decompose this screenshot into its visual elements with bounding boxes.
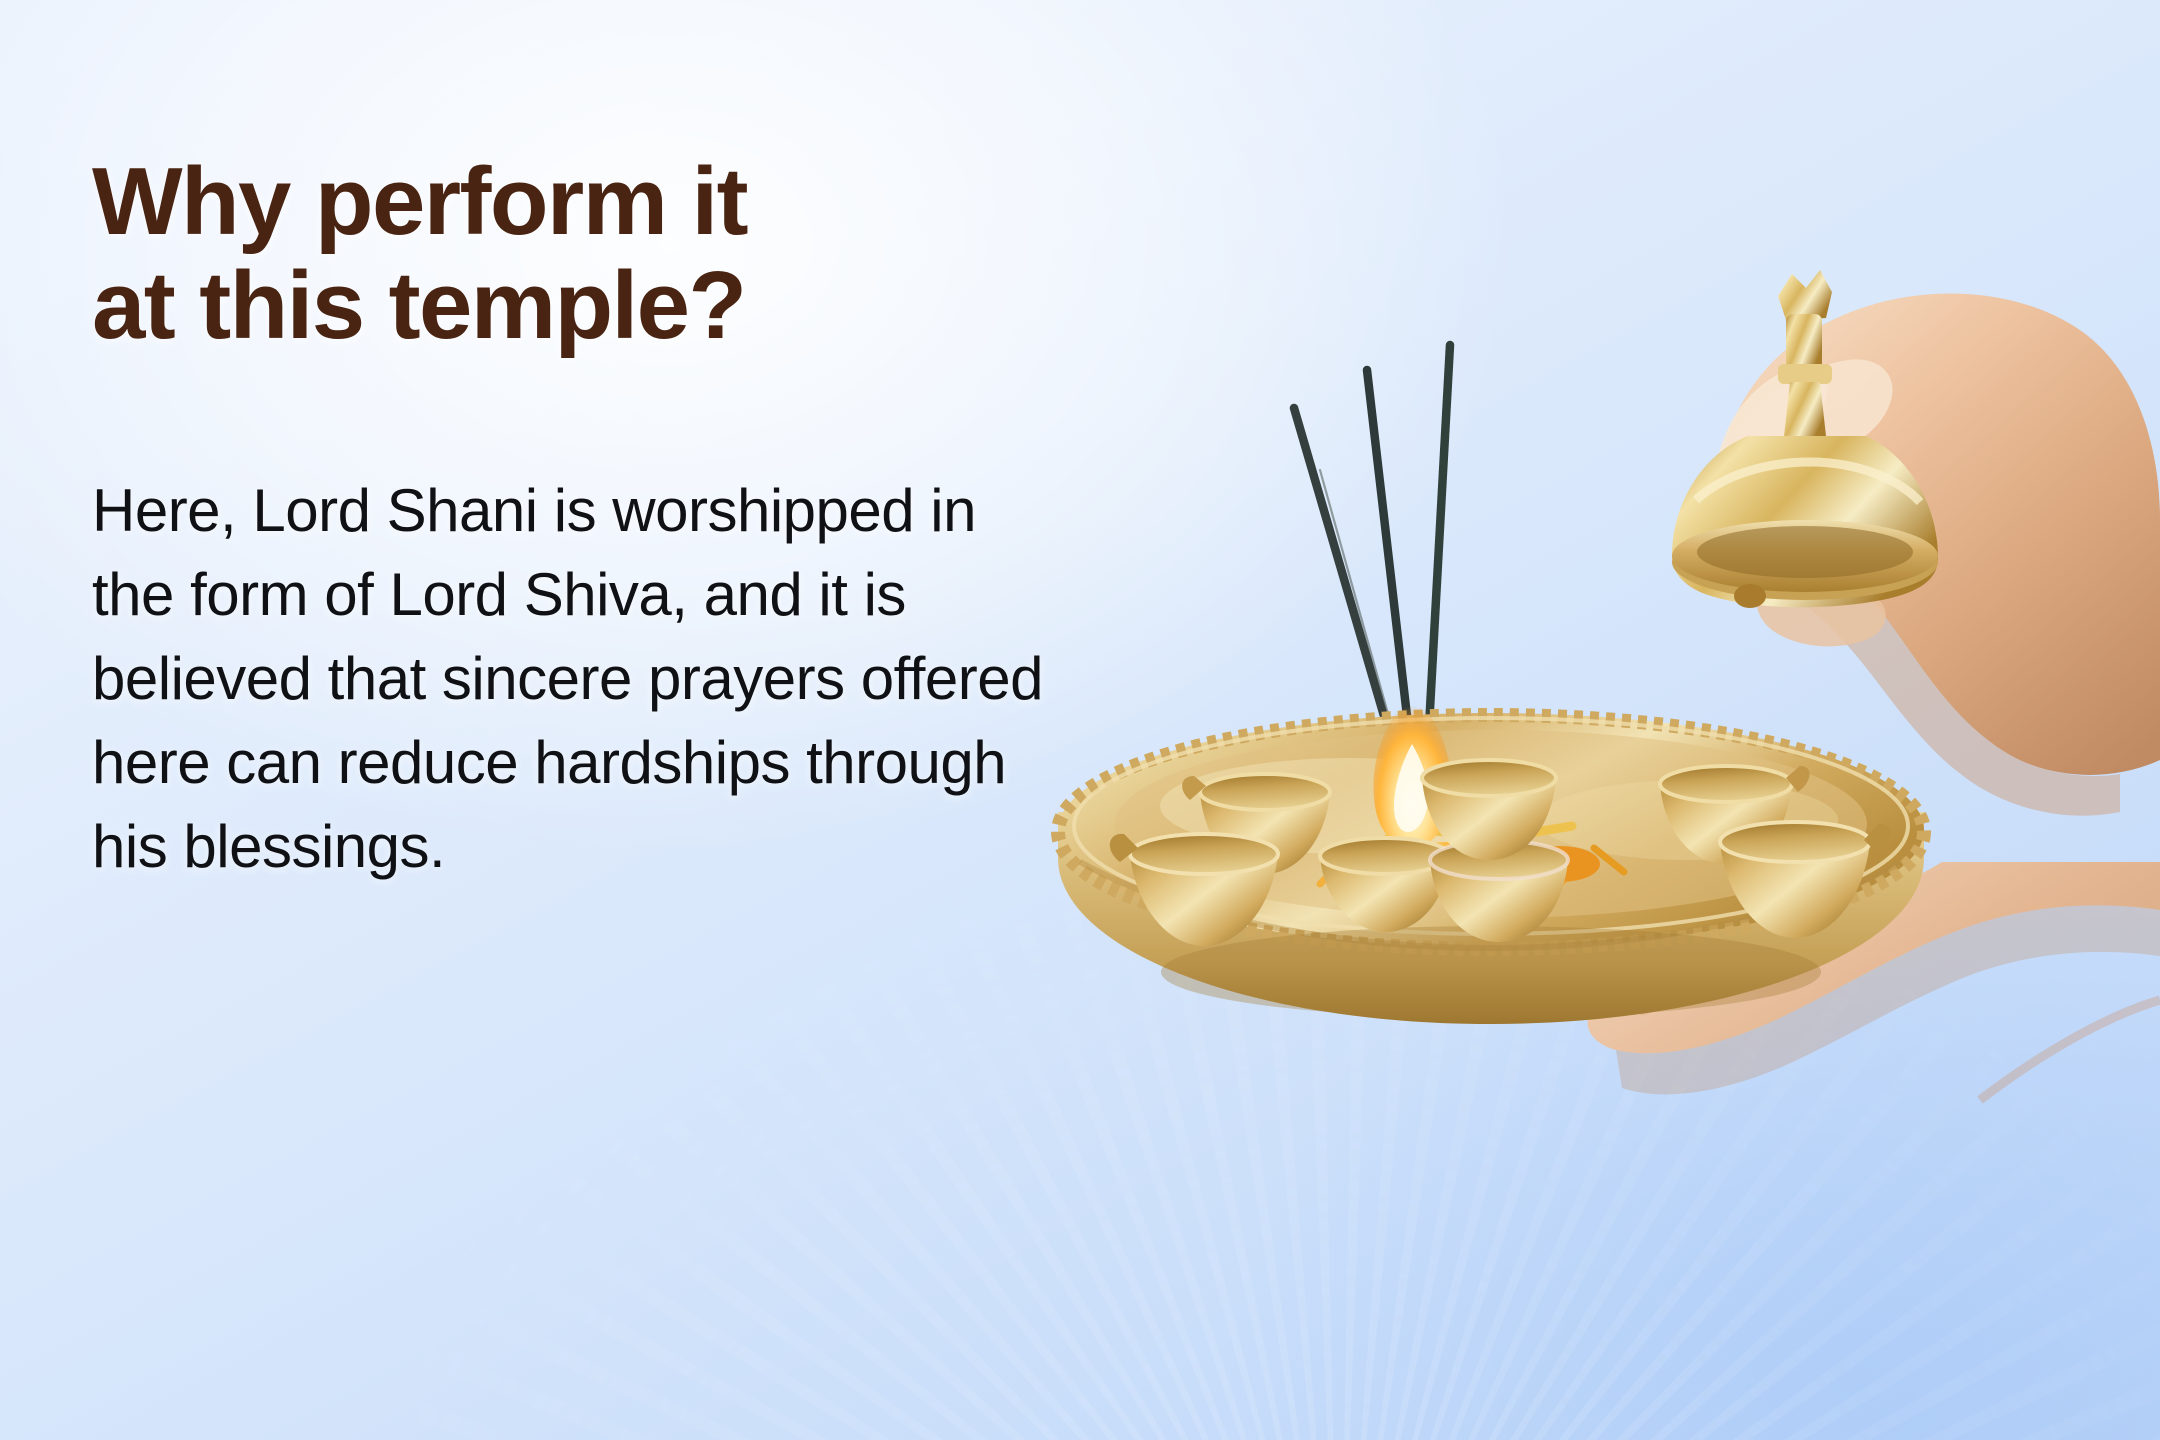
slide-card: Why perform it at this temple? Here, Lor… bbox=[0, 0, 2160, 1440]
body-paragraph: Here, Lord Shani is worshipped in the fo… bbox=[92, 357, 1047, 889]
headline-line-2: at this temple? bbox=[92, 254, 1092, 358]
katori-bowls bbox=[1110, 760, 1891, 946]
text-column: Why perform it at this temple? Here, Lor… bbox=[92, 150, 1092, 889]
puja-photograph bbox=[1020, 0, 2160, 1440]
bell-hand bbox=[1672, 270, 2160, 816]
page-title: Why perform it at this temple? bbox=[92, 150, 1092, 357]
puja-thali bbox=[1058, 690, 1924, 1024]
headline-line-1: Why perform it bbox=[92, 150, 1092, 254]
